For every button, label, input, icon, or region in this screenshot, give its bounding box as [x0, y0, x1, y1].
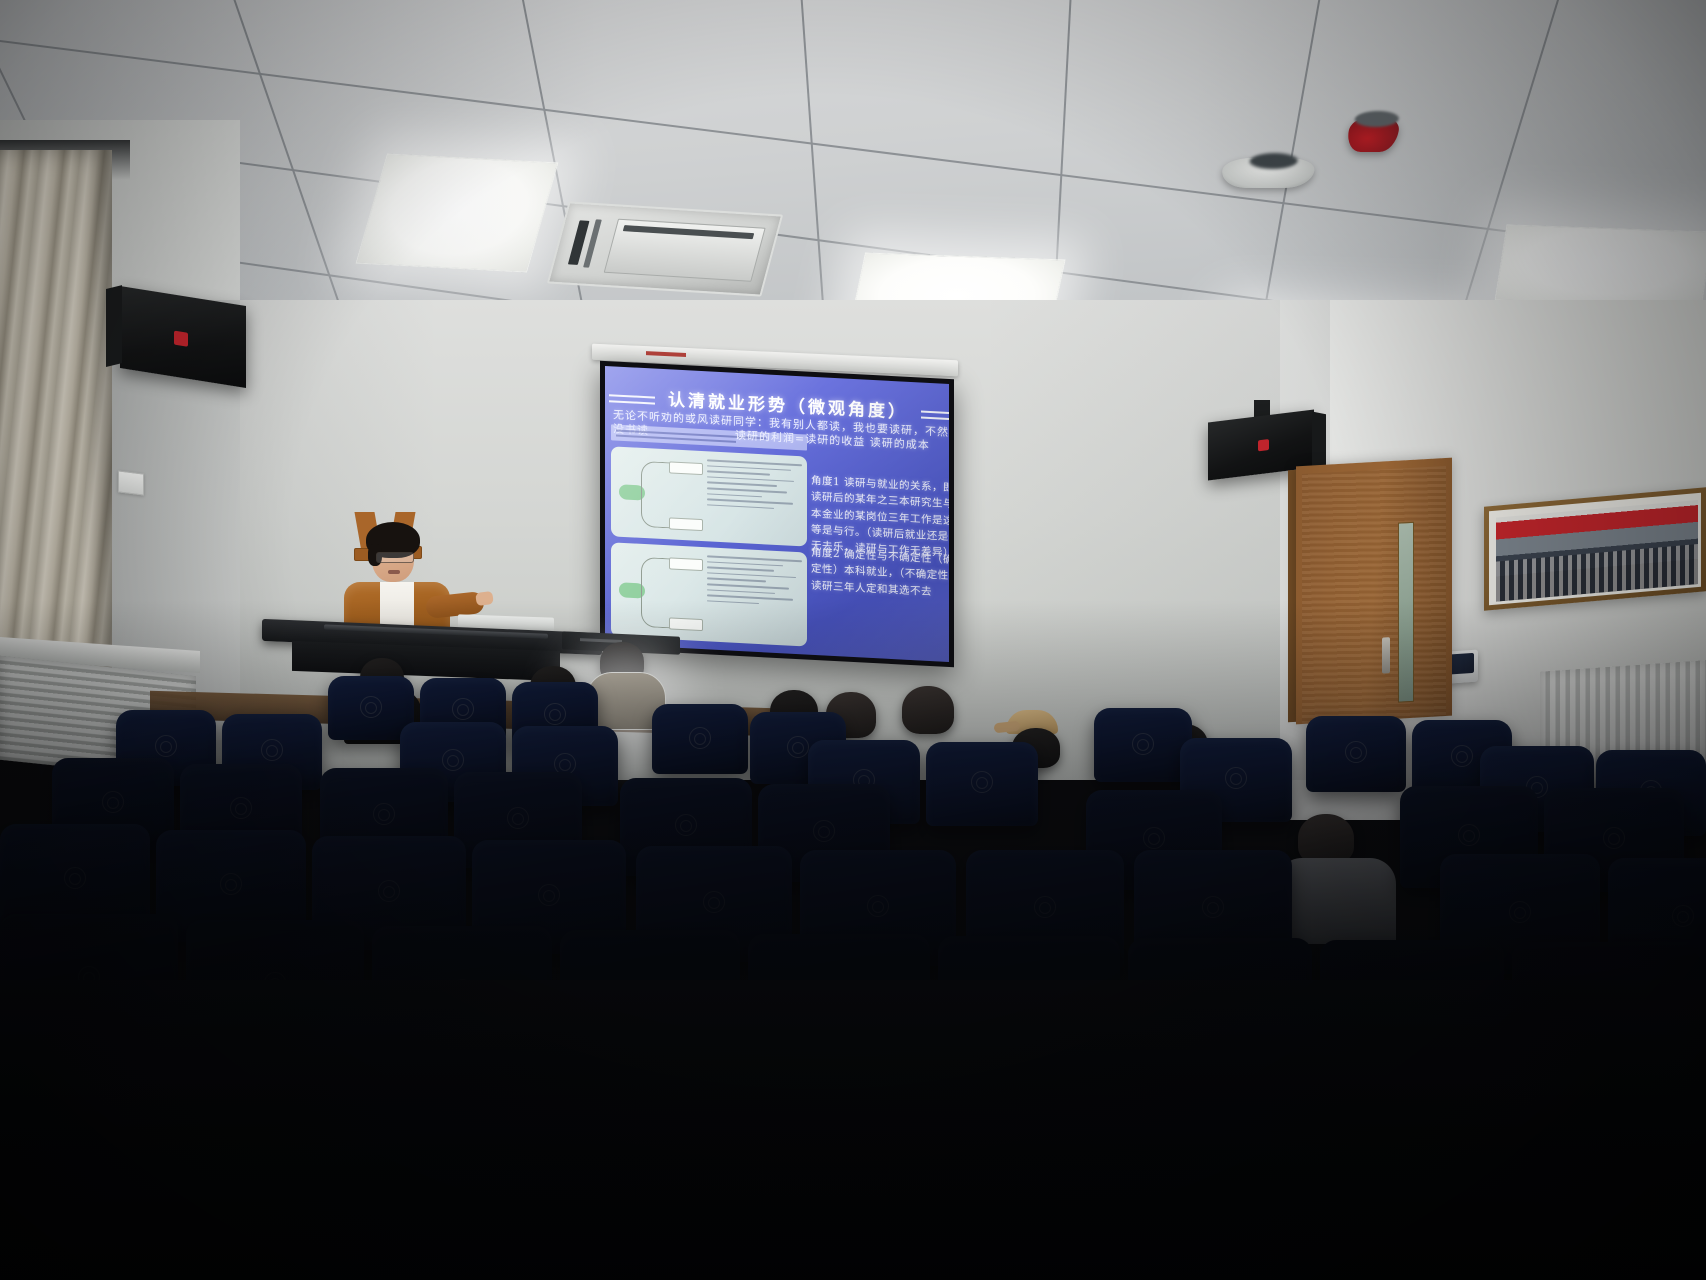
photo-image	[1496, 500, 1698, 602]
seat-back-emblem	[675, 814, 697, 836]
attendee-right-lower-body	[1276, 858, 1396, 944]
seat-back-emblem	[1345, 741, 1367, 763]
seat-back-emblem	[155, 735, 177, 757]
projection-screen: 认清就业形势（微观角度） 无论不听劝的或风读研同学：我有别人都读，我也要读研，不…	[600, 361, 954, 668]
seat-back-emblem	[1451, 745, 1473, 767]
seat-back-emblem	[1225, 767, 1247, 789]
speaker-brand-badge	[174, 331, 188, 347]
seat-back-emblem	[261, 739, 283, 761]
slide-mindmap-card-1	[611, 446, 807, 546]
seat-back-emblem	[1132, 733, 1154, 755]
seat-back-emblem	[230, 797, 252, 819]
seat-back-emblem	[971, 771, 993, 793]
attendee-right-lower-head	[1298, 814, 1354, 864]
seat-back-emblem	[813, 820, 835, 842]
light-switch-left[interactable]	[118, 470, 144, 495]
mindmap-node	[669, 517, 703, 531]
seat-back-emblem	[1672, 905, 1694, 927]
seat-back-emblem	[1202, 896, 1224, 918]
mindmap-branch-icon	[641, 460, 670, 528]
seat-back-emblem	[787, 736, 809, 758]
fire-alarm-bell-icon	[1345, 118, 1401, 152]
seat-back-emblem	[220, 873, 242, 895]
mindmap-node	[669, 557, 703, 571]
seat-back-emblem	[378, 880, 400, 902]
seat-back-emblem	[64, 867, 86, 889]
seat-back-emblem	[1034, 896, 1056, 918]
seat-back-emblem	[1603, 827, 1625, 849]
seat-back-emblem	[1509, 901, 1531, 923]
ceiling-cassette-air-conditioner	[547, 201, 783, 296]
speaker-brand-badge	[1258, 439, 1269, 451]
framed-group-photo	[1484, 487, 1706, 610]
projected-slide: 认清就业形势（微观角度） 无论不听劝的或风读研同学：我有别人都读，我也要读研，不…	[605, 366, 949, 662]
window-curtain	[0, 150, 112, 670]
seat-back-emblem	[703, 891, 725, 913]
seat[interactable]	[652, 704, 748, 774]
mindmap-text-lines	[707, 459, 802, 540]
seat-back-emblem	[867, 895, 889, 917]
seat-back-emblem	[1458, 824, 1480, 846]
seat-back-emblem	[452, 698, 474, 720]
ceiling-light-panel	[356, 153, 559, 272]
seat-back-emblem	[507, 807, 529, 829]
seat-back-emblem	[689, 727, 711, 749]
seat-back-emblem	[1143, 827, 1165, 849]
mindmap-node	[669, 461, 703, 475]
lecture-hall-photo: 认清就业形势（微观角度） 无论不听劝的或风读研同学：我有别人都读，我也要读研，不…	[0, 0, 1706, 1280]
seat-back-emblem	[373, 803, 395, 825]
seat-back-emblem	[102, 791, 124, 813]
ceiling-light-panel	[1495, 224, 1706, 307]
title-rule-left-icon	[609, 394, 655, 398]
seat-back-emblem	[538, 884, 560, 906]
title-rule-right-icon	[921, 410, 949, 414]
smoke-detector-icon	[1220, 158, 1316, 188]
presenter-mouth	[388, 570, 400, 574]
seat-back-emblem	[544, 703, 566, 725]
floor	[0, 980, 1706, 1280]
mindmap-branch-icon	[641, 557, 670, 628]
seat[interactable]	[926, 742, 1038, 826]
seat-back-emblem	[360, 696, 382, 718]
seat-back-emblem	[442, 749, 464, 771]
seat[interactable]	[1306, 716, 1406, 792]
slide-note-block-2: 角度2 确定性与不确定性（确定性）本科就业，（不确定性）读研三年人定和其选不去	[811, 545, 949, 601]
seat[interactable]	[1094, 708, 1192, 782]
attendee-mid-right-head	[902, 686, 954, 734]
glasses-icon	[376, 552, 414, 563]
